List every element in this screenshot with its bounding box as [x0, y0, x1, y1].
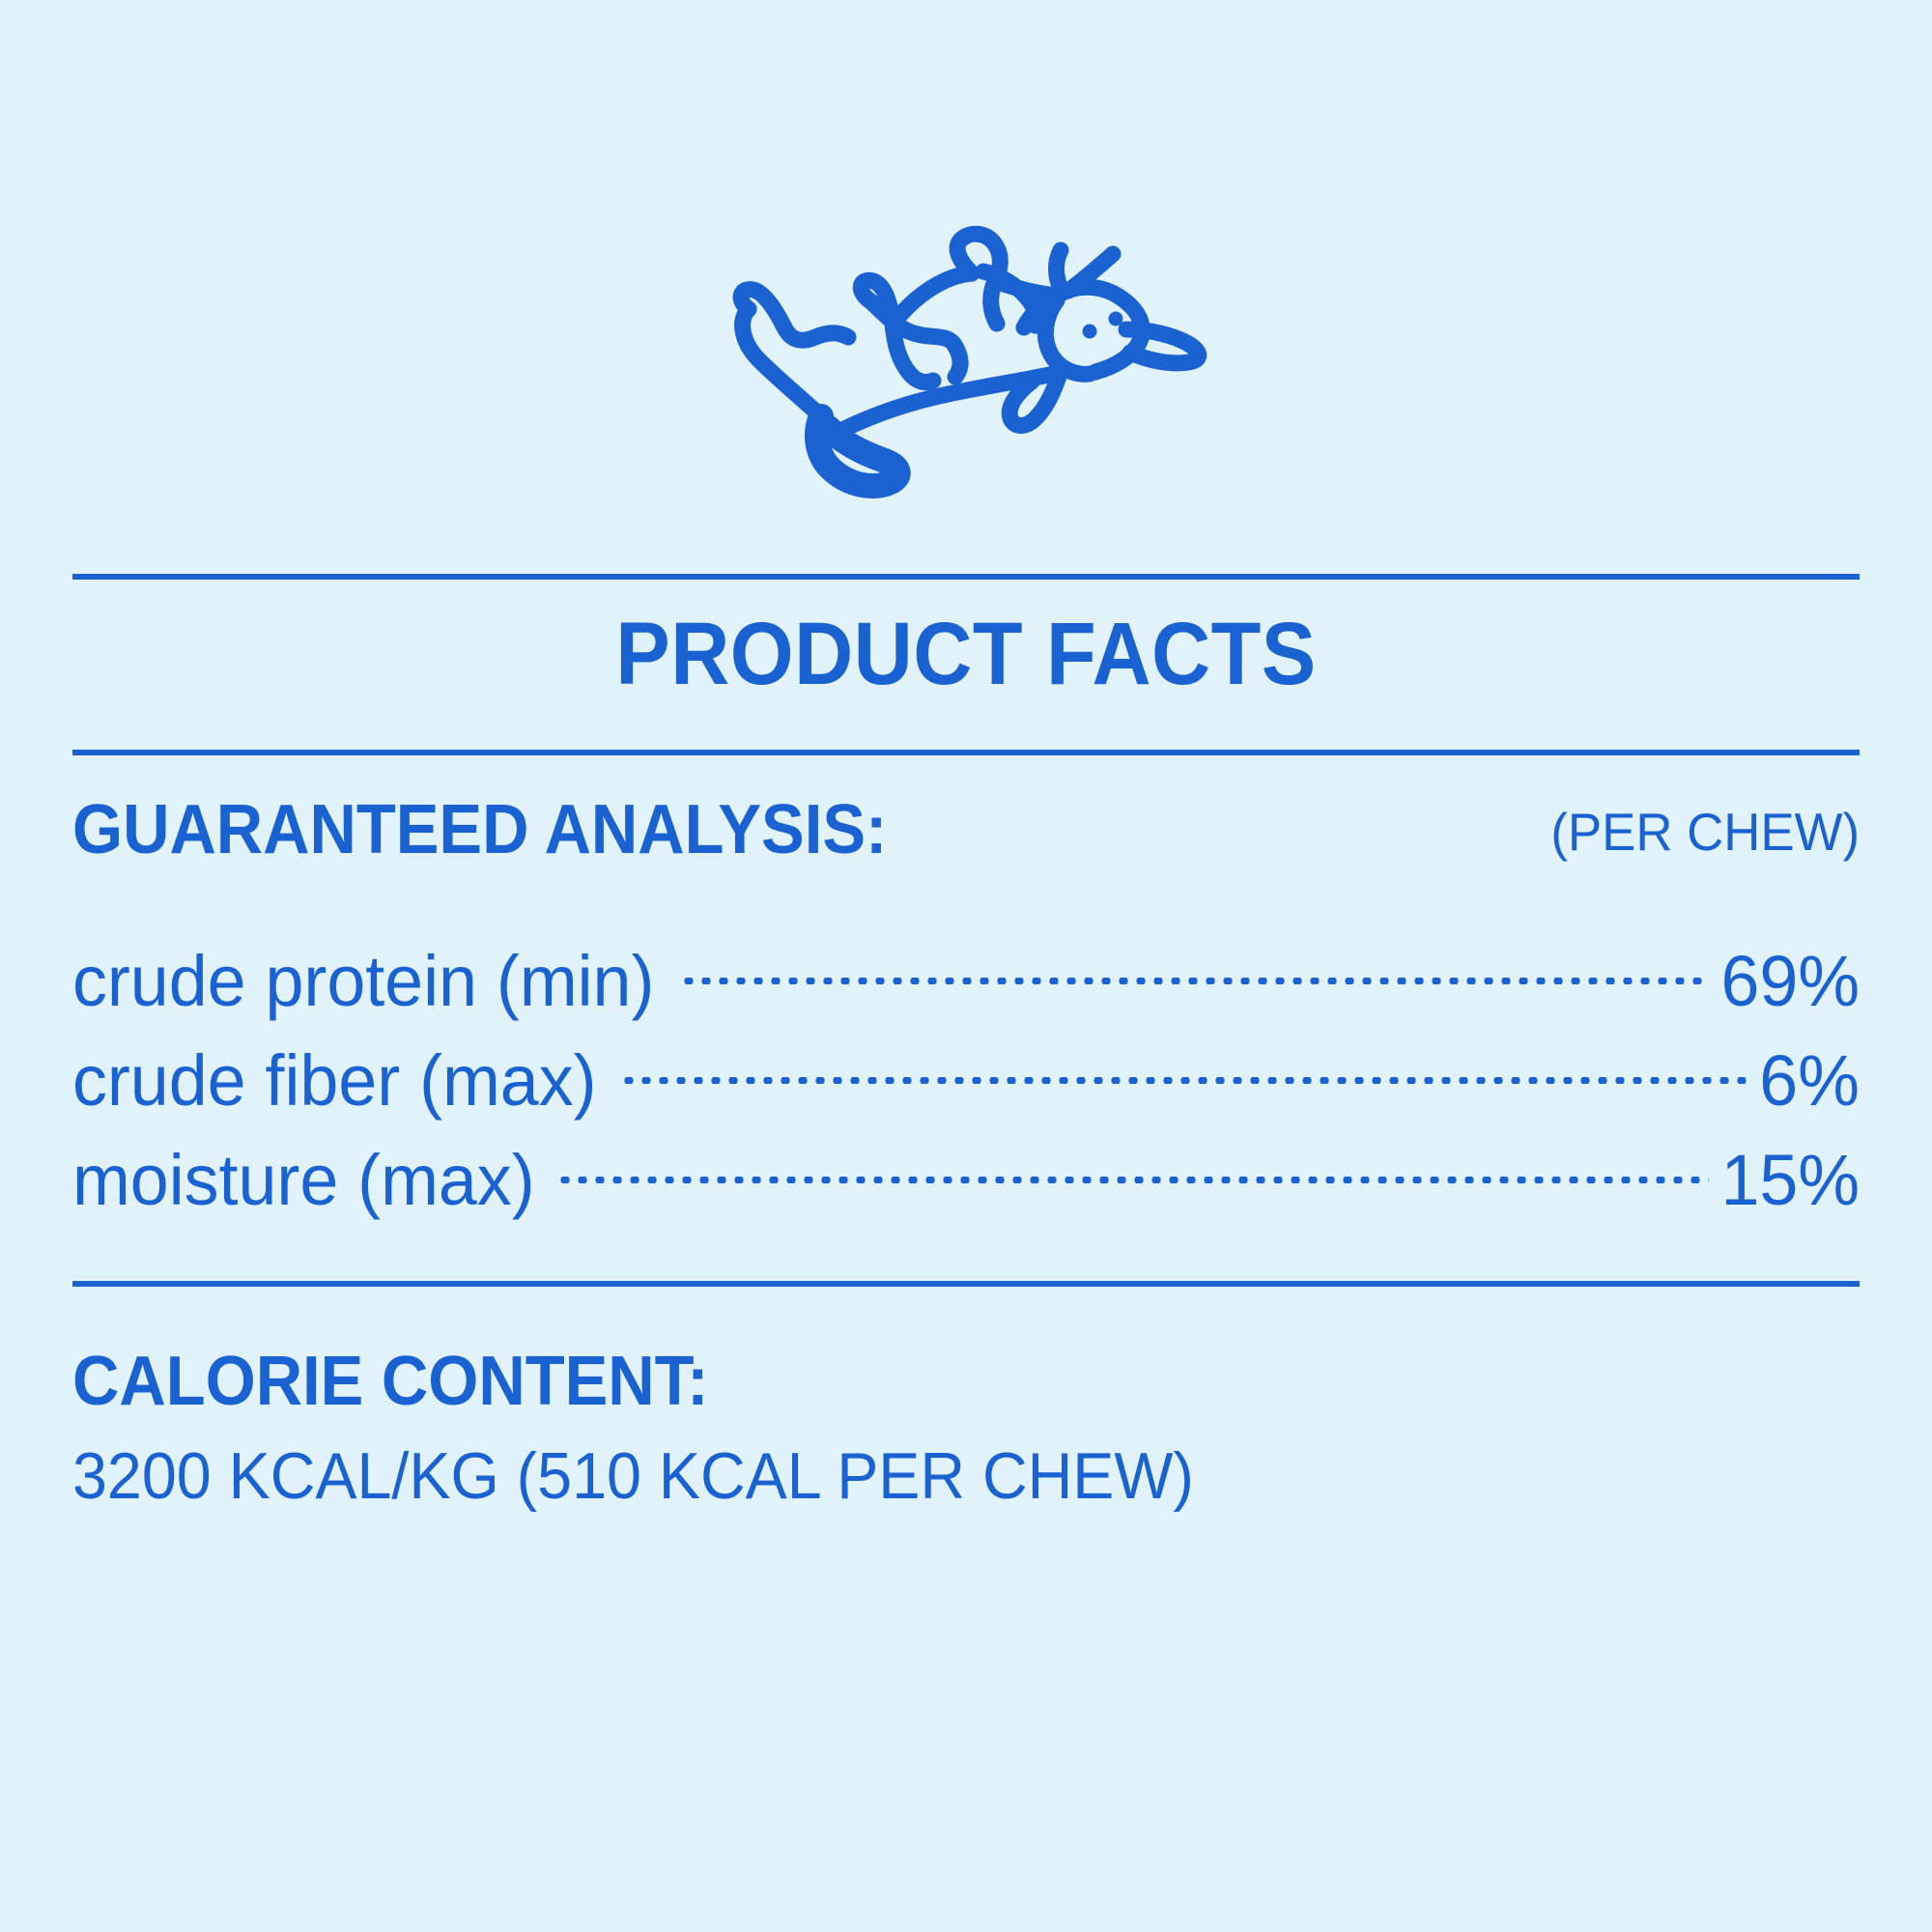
calorie-content-label: CALORIE CONTENT:	[72, 1337, 1735, 1426]
divider-above-calorie-content	[72, 1281, 1860, 1287]
divider-above-title	[72, 574, 1860, 580]
calorie-content-value: 3200 KCAL/KG (510 KCAL PER CHEW)	[72, 1434, 1771, 1519]
guaranteed-analysis-rows: crude protein (min) 69% crude fiber (max…	[72, 906, 1860, 1205]
nutrient-value: 6%	[1759, 1031, 1860, 1130]
page-title: PRODUCT FACTS	[77, 610, 1855, 698]
table-row: crude protein (min) 69%	[72, 906, 1860, 1006]
dot-leader	[556, 1105, 1708, 1205]
dot-leader	[620, 1006, 1748, 1105]
guaranteed-analysis-basis-note: (PER CHEW)	[1550, 800, 1860, 864]
guaranteed-analysis-header-row: GUARANTEED ANALYSIS: (PER CHEW)	[72, 794, 1860, 866]
nutrient-name: crude protein (min)	[72, 931, 654, 1031]
divider-below-title	[72, 750, 1860, 755]
nutrient-value: 15%	[1720, 1130, 1860, 1230]
nutrient-name: crude fiber (max)	[72, 1031, 596, 1130]
calorie-content-block: CALORIE CONTENT: 3200 KCAL/KG (510 KCAL …	[72, 1337, 1860, 1519]
dot-leader	[680, 906, 1709, 1006]
dog-lying-on-back-icon	[676, 208, 1217, 536]
nutrient-name: moisture (max)	[72, 1130, 535, 1230]
product-facts-panel: PRODUCT FACTS GUARANTEED ANALYSIS: (PER …	[0, 0, 1932, 1932]
guaranteed-analysis-label: GUARANTEED ANALYSIS:	[72, 794, 887, 866]
